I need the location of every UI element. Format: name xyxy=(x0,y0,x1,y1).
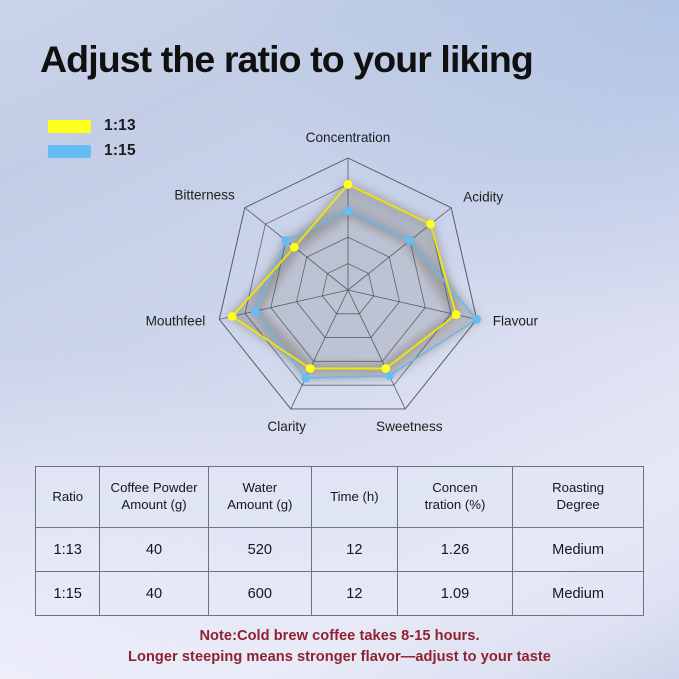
table-header-line-5-1: Degree xyxy=(514,497,642,514)
radar-point-0-4 xyxy=(306,364,314,372)
radar-point-1-2 xyxy=(473,315,481,323)
table-cell-0-3: 12 xyxy=(312,528,398,572)
table-cell-0-2: 520 xyxy=(208,528,311,572)
table-cell-1-1: 40 xyxy=(100,572,208,616)
table-cell-1-2: 600 xyxy=(208,572,311,616)
radar-point-1-1 xyxy=(406,237,414,245)
table-header-cell-2: WaterAmount (g) xyxy=(208,467,311,528)
radar-axis-label-bitterness: Bitterness xyxy=(174,188,235,203)
radar-point-1-4 xyxy=(302,374,310,382)
radar-point-0-1 xyxy=(426,220,434,228)
table-header-line-0-0: Ratio xyxy=(37,489,98,506)
table-header-line-5-0: Roasting xyxy=(514,480,642,497)
table-header-line-1-1: Amount (g) xyxy=(101,497,206,514)
table-cell-1-3: 12 xyxy=(312,572,398,616)
radar-point-0-0 xyxy=(344,180,352,188)
radar-axis-label-acidity: Acidity xyxy=(463,190,503,205)
spec-table: RatioCoffee PowderAmount (g)WaterAmount … xyxy=(35,466,644,616)
radar-point-1-6 xyxy=(282,237,290,245)
radar-point-1-0 xyxy=(344,207,352,215)
radar-axis-label-flavour: Flavour xyxy=(493,313,539,328)
table-cell-0-0: 1:13 xyxy=(36,528,100,572)
radar-point-0-2 xyxy=(452,311,460,319)
table-cell-0-5: Medium xyxy=(513,528,644,572)
radar-point-0-6 xyxy=(290,243,298,251)
table-header-line-2-0: Water xyxy=(210,480,310,497)
note-line-1: Note:Cold brew coffee takes 8-15 hours. xyxy=(0,626,679,647)
spec-table-container: RatioCoffee PowderAmount (g)WaterAmount … xyxy=(35,466,644,616)
note-line-2: Longer steeping means stronger flavor—ad… xyxy=(0,647,679,668)
legend-swatch-blue xyxy=(48,145,91,158)
radar-axis-label-mouthfeel: Mouthfeel xyxy=(146,313,206,328)
table-header-line-1-0: Coffee Powder xyxy=(101,480,206,497)
legend-swatch-yellow xyxy=(48,120,91,133)
table-header-cell-5: RoastingDegree xyxy=(513,467,644,528)
table-header-cell-1: Coffee PowderAmount (g) xyxy=(100,467,208,528)
table-header-line-4-0: Concen xyxy=(399,480,512,497)
table-header-line-4-1: tration (%) xyxy=(399,497,512,514)
table-cell-0-1: 40 xyxy=(100,528,208,572)
radar-axis-label-sweetness: Sweetness xyxy=(376,419,443,434)
table-row: 1:1540600121.09Medium xyxy=(36,572,644,616)
table-cell-1-5: Medium xyxy=(513,572,644,616)
table-header-line-3-0: Time (h) xyxy=(313,489,396,506)
radar-chart: ConcentrationAcidityFlavourSweetnessClar… xyxy=(113,118,583,463)
table-header-row: RatioCoffee PowderAmount (g)WaterAmount … xyxy=(36,467,644,528)
table-header-cell-0: Ratio xyxy=(36,467,100,528)
radar-point-1-5 xyxy=(251,307,259,315)
table-header-cell-4: Concentration (%) xyxy=(397,467,513,528)
table-cell-1-0: 1:15 xyxy=(36,572,100,616)
table-row: 1:1340520121.26Medium xyxy=(36,528,644,572)
page-title: Adjust the ratio to your liking xyxy=(40,38,650,80)
radar-chart-svg: ConcentrationAcidityFlavourSweetnessClar… xyxy=(113,118,583,463)
radar-axis-label-clarity: Clarity xyxy=(267,419,306,434)
radar-point-0-5 xyxy=(228,312,236,320)
radar-point-0-3 xyxy=(382,364,390,372)
table-cell-0-4: 1.26 xyxy=(397,528,513,572)
table-header-cell-3: Time (h) xyxy=(312,467,398,528)
table-cell-1-4: 1.09 xyxy=(397,572,513,616)
footer-note: Note:Cold brew coffee takes 8-15 hours. … xyxy=(0,626,679,668)
radar-axis-label-concentration: Concentration xyxy=(306,130,391,145)
table-header-line-2-1: Amount (g) xyxy=(210,497,310,514)
